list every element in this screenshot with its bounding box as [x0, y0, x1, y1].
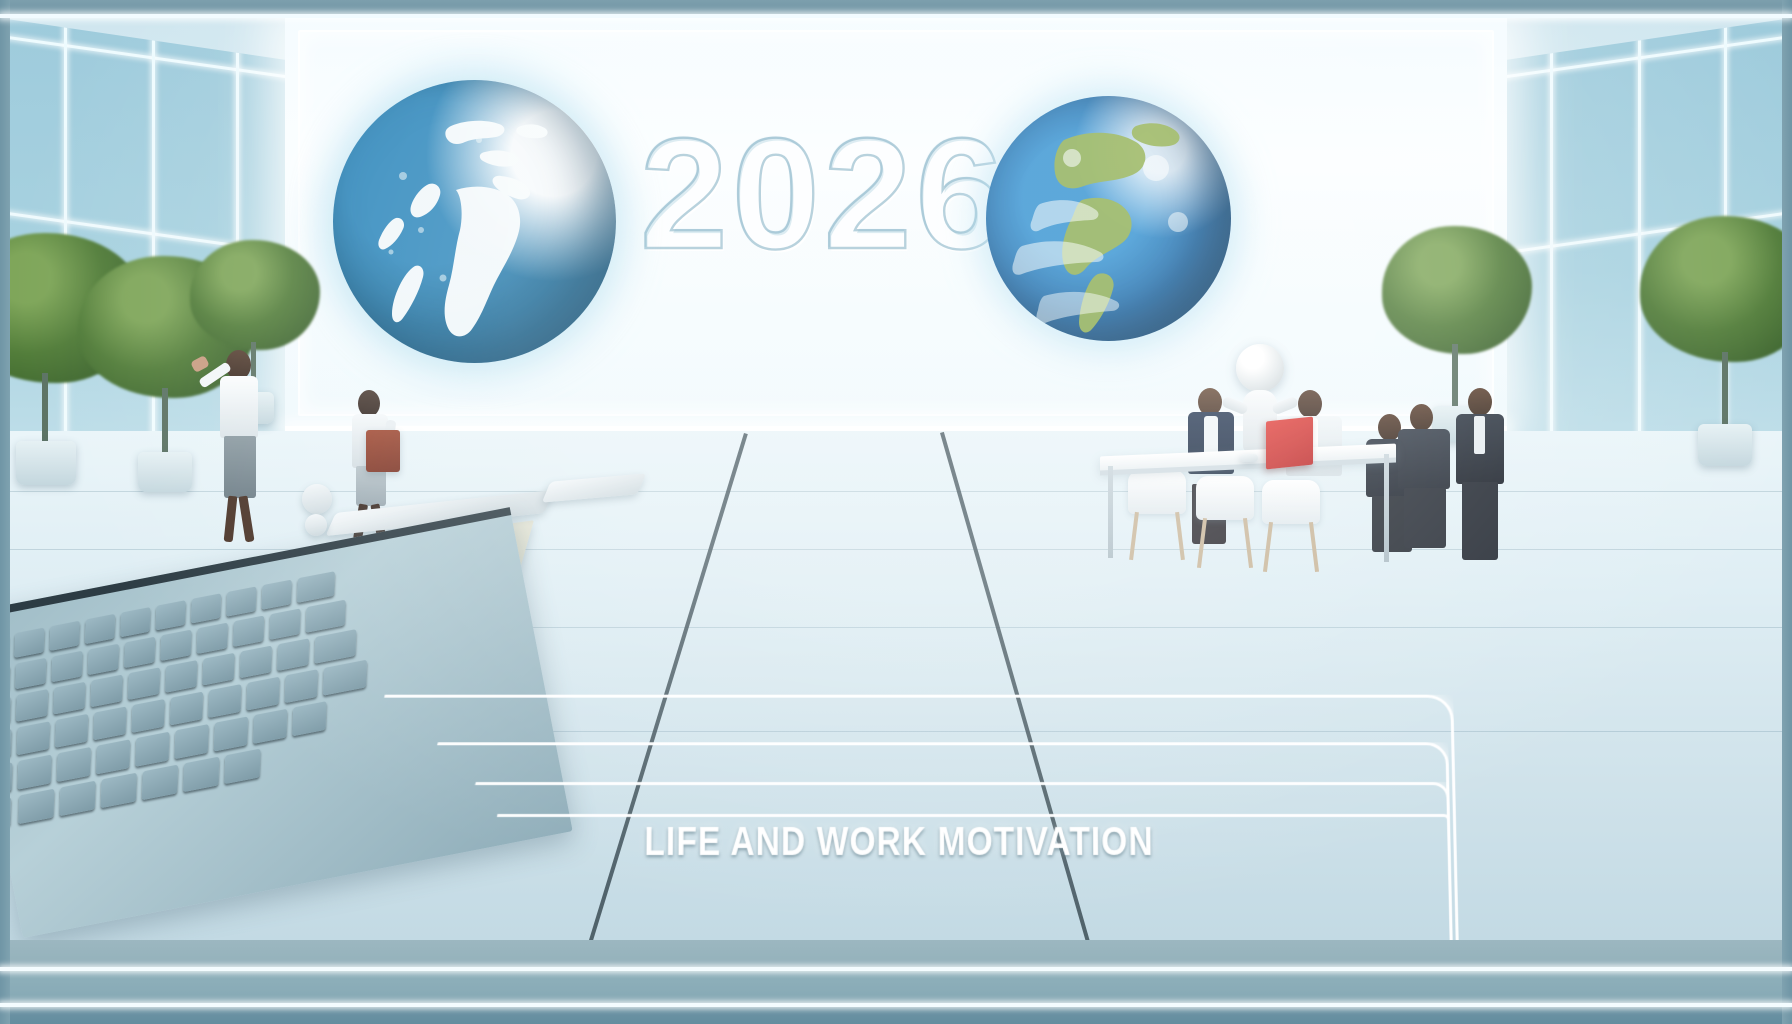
table-leg-left — [1108, 466, 1113, 558]
frame-left-edge — [0, 0, 10, 1024]
chair-c — [1262, 480, 1320, 572]
frame-bottom-band-2 — [0, 971, 1792, 1003]
briefcase — [366, 430, 400, 472]
banner-title: LIFE AND WORK MOTIVATION — [536, 814, 1261, 870]
globe-americas-icon — [986, 96, 1231, 341]
plant-right-2 — [1640, 216, 1792, 466]
table-leg-right — [1384, 454, 1389, 562]
chair-b — [1196, 476, 1254, 568]
floor-sphere — [302, 484, 332, 514]
frame-top-glow-line — [0, 14, 1792, 18]
frame-bottom-band-3 — [0, 1007, 1792, 1024]
table-mouse — [1240, 454, 1258, 462]
chair-a — [1128, 470, 1186, 560]
person-standing-man-dark — [1452, 388, 1508, 564]
floor-sphere-small — [305, 514, 327, 536]
frame-right-edge — [1782, 0, 1792, 1024]
scene-root: 2026 — [0, 0, 1792, 1024]
frame-top-band — [0, 0, 1792, 14]
bottom-banner: LIFE AND WORK MOTIVATION — [297, 687, 1463, 940]
person-woman-pointing — [200, 350, 274, 546]
red-laptop — [1266, 417, 1313, 470]
frame-bottom-glow-line-1 — [0, 967, 1792, 971]
globe-europe-africa-icon — [333, 80, 616, 363]
mannequin-head — [1236, 344, 1284, 392]
frame-bottom-band-1 — [0, 940, 1792, 967]
frame-bottom-glow-line-2 — [0, 1003, 1792, 1007]
person-seated-man-dark-b — [1396, 404, 1452, 552]
office-room: 2026 — [0, 18, 1792, 940]
year-display: 2026 — [640, 114, 990, 274]
